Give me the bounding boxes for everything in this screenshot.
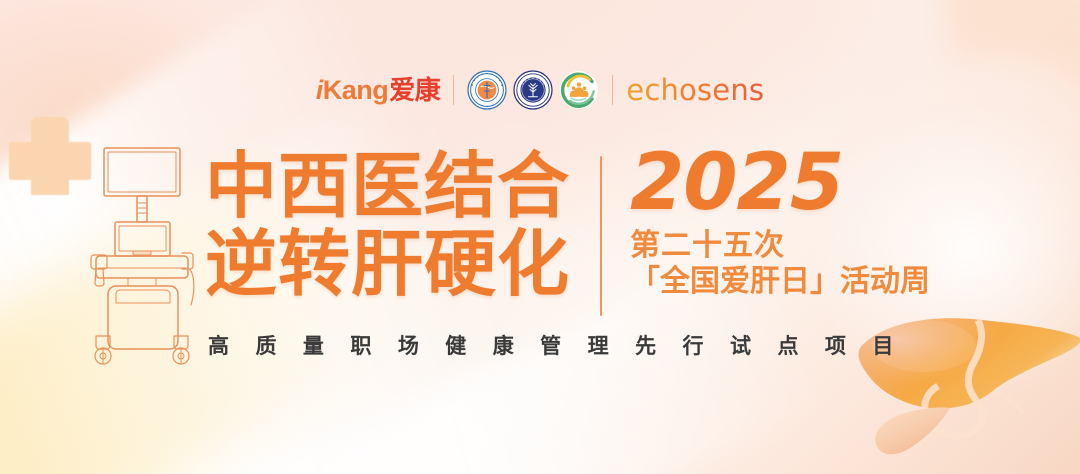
headline-line-2: 逆转肝硬化 — [205, 226, 570, 302]
ikang-name: Kang — [323, 77, 389, 104]
ikang-prefix: i — [316, 77, 323, 104]
medical-institute-emblem — [513, 70, 553, 110]
echosens-logo[interactable]: echosens — [626, 76, 764, 105]
tagline-char: 健 — [445, 330, 467, 360]
event-year: 2025 — [630, 148, 930, 220]
logo-divider-left — [453, 75, 454, 105]
event-edition: 第二十五次 — [630, 228, 930, 265]
tagline-char: 场 — [398, 330, 420, 360]
tagline-char: 职 — [350, 330, 372, 360]
tagline: 高 质 量 职 场 健 康 管 理 先 行 试 点 项 目 — [208, 330, 894, 360]
tagline-char: 高 — [208, 330, 230, 360]
tagline-char: 点 — [777, 330, 799, 360]
partner-org-logos — [467, 70, 599, 110]
headline-divider — [600, 156, 602, 316]
tagline-char: 目 — [872, 330, 894, 360]
tagline-char: 行 — [683, 330, 705, 360]
tagline-char: 先 — [635, 330, 657, 360]
ikang-chinese: 爱康 — [389, 78, 440, 104]
headline-line-1: 中西医结合 — [205, 148, 570, 224]
tagline-char: 试 — [730, 330, 752, 360]
event-name: 「全国爱肝日」活动周 — [630, 264, 930, 301]
headline-chinese: 中西医结合 逆转肝硬化 — [205, 148, 570, 303]
tagline-char: 理 — [588, 330, 610, 360]
promotional-banner: iKang爱康 — [0, 0, 1080, 474]
logo-row: iKang爱康 — [0, 70, 1080, 110]
chinese-medicine-association-emblem — [467, 70, 507, 110]
event-block: 2025 第二十五次 「全国爱肝日」活动周 — [630, 148, 930, 301]
tagline-char: 质 — [255, 330, 277, 360]
tagline-char: 量 — [303, 330, 325, 360]
tagline-char: 管 — [540, 330, 562, 360]
fibroscan-device-illustration — [78, 143, 206, 371]
headline-block: 中西医结合 逆转肝硬化 2025 第二十五次 「全国爱肝日」活动周 — [205, 148, 930, 316]
tagline-char: 康 — [493, 330, 515, 360]
health-foundation-emblem — [559, 70, 599, 110]
ikang-logo[interactable]: iKang爱康 — [316, 77, 441, 104]
logo-divider-right — [612, 75, 613, 105]
tagline-char: 项 — [825, 330, 847, 360]
